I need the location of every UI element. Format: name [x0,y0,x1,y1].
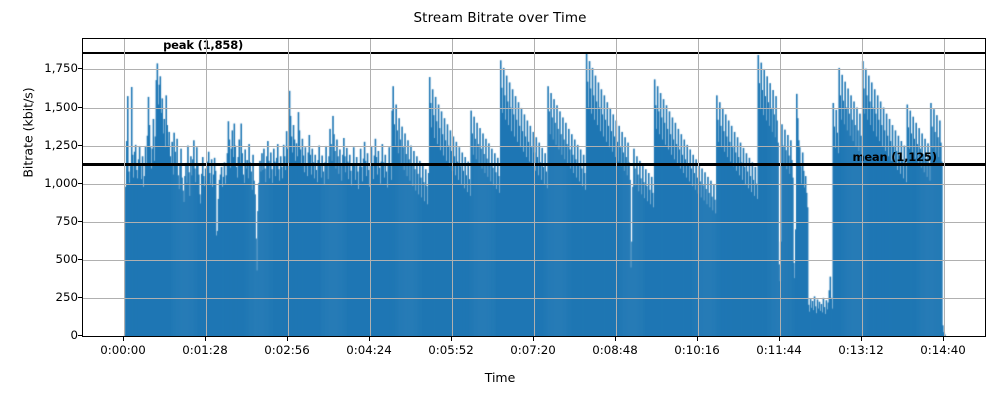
y-tick-mark [78,221,82,222]
gridline-vertical [288,39,289,336]
x-tick-mark [451,337,452,341]
x-tick-mark [205,337,206,341]
x-tick-label: 0:10:16 [674,343,719,357]
y-tick-label: 0 [4,328,78,342]
x-tick-label: 0:04:24 [346,343,391,357]
chart-figure: Stream Bitrate over Time Bitrate (kbit/s… [0,0,1000,400]
gridline-vertical [862,39,863,336]
y-tick-mark [78,335,82,336]
x-tick-label: 0:14:40 [920,343,965,357]
gridline-vertical [780,39,781,336]
x-tick-mark [861,337,862,341]
y-tick-label: 1,750 [4,61,78,75]
y-axis-ticks: 02505007501,0001,2501,5001,750 [0,0,78,400]
x-tick-mark [287,337,288,341]
gridline-vertical [370,39,371,336]
x-tick-mark [369,337,370,341]
x-tick-label: 0:05:52 [428,343,473,357]
y-tick-label: 1,000 [4,176,78,190]
x-tick-mark [533,337,534,341]
y-tick-label: 750 [4,214,78,228]
peak-annotation-label: peak (1,858) [163,38,243,52]
gridline-vertical [206,39,207,336]
y-tick-mark [78,259,82,260]
x-tick-mark [943,337,944,341]
x-tick-label: 0:08:48 [592,343,637,357]
y-tick-label: 1,500 [4,100,78,114]
plot-area: peak (1,858) mean (1,125) [82,38,986,337]
x-tick-label: 0:00:00 [100,343,145,357]
x-tick-mark [123,337,124,341]
x-tick-label: 0:13:12 [838,343,883,357]
x-tick-label: 0:01:28 [182,343,227,357]
gridline-vertical [534,39,535,336]
gridline-vertical [616,39,617,336]
gridline-vertical [944,39,945,336]
y-tick-mark [78,183,82,184]
y-tick-mark [78,145,82,146]
x-tick-mark [615,337,616,341]
gridline-vertical [452,39,453,336]
x-tick-label: 0:11:44 [756,343,801,357]
y-tick-label: 1,250 [4,138,78,152]
mean-annotation-label: mean (1,125) [853,150,937,164]
gridline-vertical [124,39,125,336]
x-tick-label: 0:07:20 [510,343,555,357]
y-tick-mark [78,297,82,298]
y-tick-mark [78,107,82,108]
x-tick-mark [697,337,698,341]
y-tick-label: 500 [4,252,78,266]
x-tick-mark [779,337,780,341]
x-axis-label-text: Time [485,370,516,385]
x-tick-label: 0:02:56 [264,343,309,357]
gridline-horizontal [83,336,985,337]
x-axis-label: Time [0,370,1000,385]
y-tick-mark [78,68,82,69]
y-tick-label: 250 [4,290,78,304]
gridline-vertical [698,39,699,336]
chart-title: Stream Bitrate over Time [0,10,1000,26]
